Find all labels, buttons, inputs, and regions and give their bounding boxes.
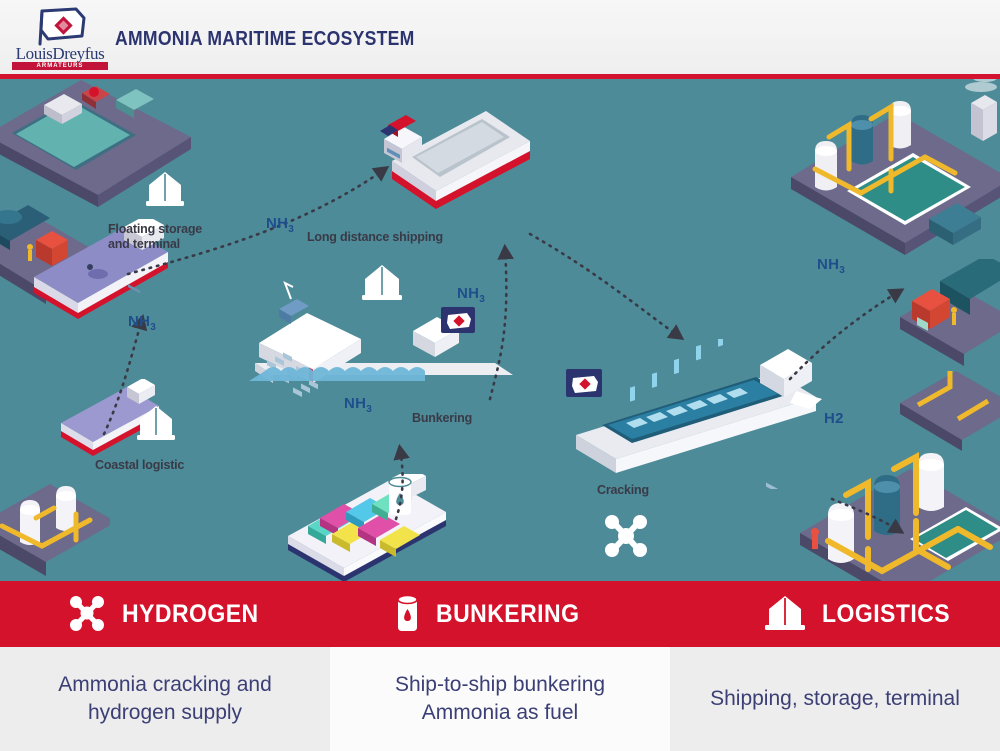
ship-bow-icon [762, 593, 808, 635]
vessel-bunkering-receiver [245, 279, 545, 409]
label-floating-storage: Floating storage and terminal [108, 222, 228, 252]
infographic-page: LouisDreyfus ARMATEURS AMMONIA MARITIME … [0, 0, 1000, 751]
caption-logistics-line1: Shipping, storage, terminal [710, 687, 960, 710]
flow-label-nh3-3: NH3 [344, 395, 372, 415]
caption-bunkering-line1: Ship-to-ship bunkering [395, 673, 605, 696]
fuel-drum-icon [392, 592, 422, 636]
vessel-container-ship [280, 474, 455, 581]
banner-item-bunkering[interactable]: BUNKERING [392, 592, 592, 636]
caption-hydrogen-line1: Ammonia cracking and [58, 673, 272, 696]
banner-label-logistics: LOGISTICS [822, 600, 950, 629]
flow-label-nh3-4: NH3 [457, 285, 485, 305]
label-bunkering: Bunkering [412, 411, 502, 426]
caption-hydrogen: Ammonia cracking and hydrogen supply [0, 647, 330, 751]
banner-label-hydrogen: HYDROGEN [122, 600, 259, 629]
banner-item-hydrogen[interactable]: HYDROGEN [66, 593, 270, 635]
flag-icon [36, 6, 90, 46]
label-long-distance-shipping: Long distance shipping [307, 230, 467, 245]
logo-wordmark: LouisDreyfus [12, 44, 108, 64]
pier-right [900, 349, 1000, 469]
ecosystem-diagram: Floating storage and terminal [0, 79, 1000, 581]
flow-label-nh3-1: NH3 [266, 215, 294, 235]
banner-label-bunkering: BUNKERING [436, 600, 579, 629]
category-banner: HYDROGEN BUNKERING LOGISTICS [0, 581, 1000, 647]
caption-hydrogen-line2: hydrogen supply [88, 701, 242, 724]
molecule-icon [66, 593, 108, 635]
molecule-icon-cracking [600, 511, 652, 563]
ship-bow-icon-floating-storage [142, 169, 188, 211]
flow-label-h2: H2 [824, 410, 844, 427]
page-title: AMMONIA MARITIME ECOSYSTEM [115, 28, 415, 51]
louis-dreyfus-logo: LouisDreyfus ARMATEURS [12, 4, 108, 74]
caption-logistics: Shipping, storage, terminal [670, 647, 1000, 751]
pier-left-bottom [0, 454, 110, 581]
caption-bunkering-line2: Ammonia as fuel [422, 701, 578, 724]
plant-top-right [785, 79, 1000, 273]
flow-label-nh3-2: NH3 [128, 313, 156, 333]
label-cracking: Cracking [597, 483, 677, 498]
logo-subtext: ARMATEURS [12, 62, 108, 70]
caption-row: Ammonia cracking and hydrogen supply Shi… [0, 647, 1000, 751]
banner-item-logistics[interactable]: LOGISTICS [762, 593, 961, 635]
vessel-long-distance [378, 99, 538, 229]
flow-label-nh3-5: NH3 [817, 256, 845, 276]
page-header: LouisDreyfus ARMATEURS AMMONIA MARITIME … [0, 0, 1000, 78]
caption-bunkering: Ship-to-ship bunkering Ammonia as fuel [330, 647, 670, 751]
fuel-drum-icon-bunkering [382, 473, 418, 521]
label-coastal-logistic: Coastal logistic [95, 458, 225, 473]
ship-bow-icon-coastal [133, 403, 179, 445]
